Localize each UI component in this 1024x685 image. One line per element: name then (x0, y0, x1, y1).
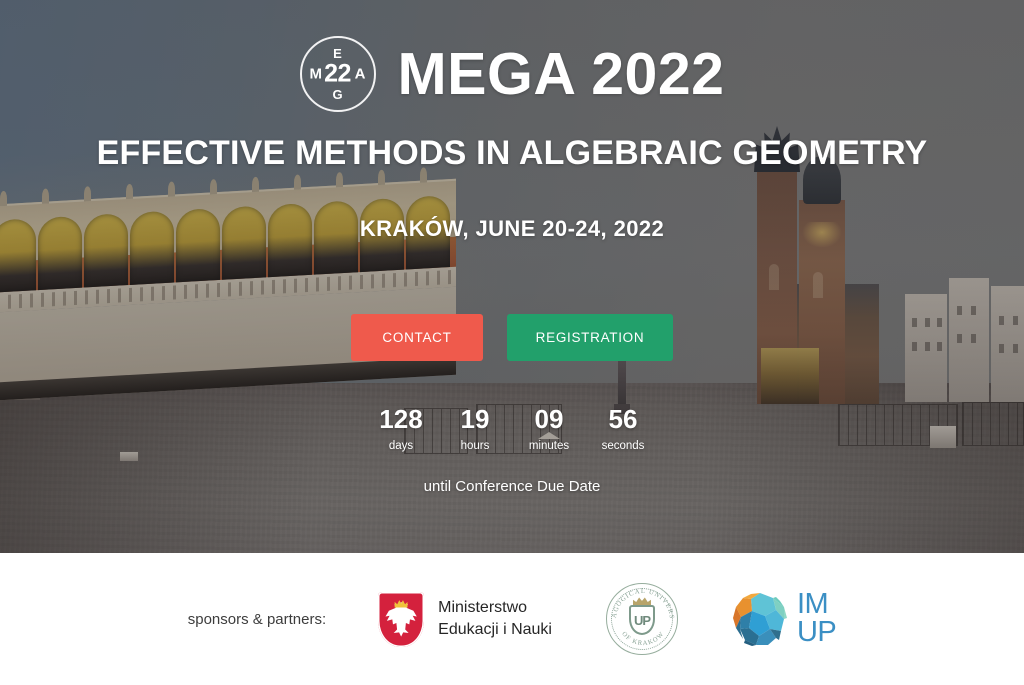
logo-letter-bottom: G (332, 88, 342, 101)
countdown-unit-seconds: 56 seconds (586, 406, 660, 452)
logo-letter-right: A (355, 67, 366, 82)
sponsor-pedagogical-university[interactable]: PEDAGOGICAL UNIVERSITY OF KRAKOW UP (606, 583, 678, 655)
logo-letter-left: M (310, 67, 323, 82)
countdown-timer: 128 days 19 hours 09 minutes 56 seconds (0, 406, 1024, 452)
countdown-value-seconds: 56 (586, 406, 660, 433)
page-root: E M 22 A G MEGA 2022 EFFECTIVE METHODS I… (0, 0, 1024, 685)
ministry-name-line2: Edukacji i Nauki (438, 619, 552, 641)
countdown-label-days: days (364, 440, 438, 452)
sponsors-label: sponsors & partners: (188, 611, 326, 628)
sponsors-bar: sponsors & partners: Ministerstwo Edukac… (0, 553, 1024, 685)
countdown-value-minutes: 09 (512, 406, 586, 433)
contact-button[interactable]: CONTACT (351, 314, 483, 361)
logo-year-center: 22 (324, 62, 351, 87)
ministry-name: Ministerstwo Edukacji i Nauki (438, 597, 552, 640)
countdown-label-hours: hours (438, 440, 512, 452)
logo-letter-top: E (333, 47, 342, 60)
ministry-name-line1: Ministerstwo (438, 597, 552, 619)
imup-line1: IM (797, 591, 836, 619)
imup-wordmark: IM UP (797, 591, 836, 646)
page-title: MEGA 2022 (398, 45, 725, 104)
sponsor-im-up[interactable]: IM UP (732, 591, 836, 647)
imup-polyhedron-icon (732, 591, 788, 647)
hero-subtitle: EFFECTIVE METHODS IN ALGEBRAIC GEOMETRY (0, 134, 1024, 173)
hero-date-location: KRAKÓW, JUNE 20-24, 2022 (0, 216, 1024, 242)
countdown-value-days: 128 (364, 406, 438, 433)
imup-line2: UP (797, 619, 836, 647)
countdown-unit-minutes: 09 minutes (512, 406, 586, 452)
title-row: E M 22 A G MEGA 2022 (0, 36, 1024, 112)
countdown-value-hours: 19 (438, 406, 512, 433)
mega-logo-icon: E M 22 A G (300, 36, 376, 112)
countdown-unit-hours: 19 hours (438, 406, 512, 452)
hero-content: E M 22 A G MEGA 2022 EFFECTIVE METHODS I… (0, 0, 1024, 553)
sponsor-ministry-of-education[interactable]: Ministerstwo Edukacji i Nauki (378, 592, 552, 647)
countdown-unit-days: 128 days (364, 406, 438, 452)
countdown-label-minutes: minutes (512, 440, 586, 452)
sponsors-inner: sponsors & partners: Ministerstwo Edukac… (188, 583, 837, 655)
polish-eagle-crest-icon (378, 592, 424, 647)
hero-banner: E M 22 A G MEGA 2022 EFFECTIVE METHODS I… (0, 0, 1024, 553)
countdown-note: until Conference Due Date (0, 478, 1024, 495)
registration-button[interactable]: REGISTRATION (507, 314, 673, 361)
countdown-label-seconds: seconds (586, 440, 660, 452)
hero-cta-row: CONTACT REGISTRATION (0, 314, 1024, 361)
